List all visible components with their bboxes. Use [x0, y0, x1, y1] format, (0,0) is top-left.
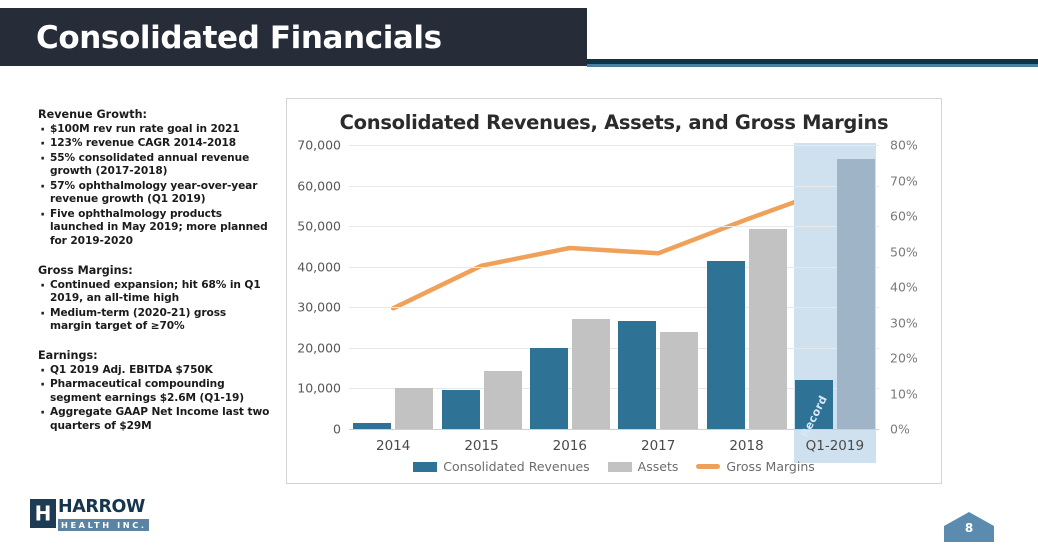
legend-label: Consolidated Revenues	[443, 459, 589, 474]
bullet-item: Five ophthalmology products launched in …	[38, 208, 270, 249]
chart-plot-area: 010,00020,00030,00040,00050,00060,00070,…	[349, 145, 879, 429]
bullet-item: 55% consolidated annual revenue growth (…	[38, 152, 270, 180]
chart-panel: Consolidated Revenues, Assets, and Gross…	[286, 98, 942, 484]
highlights-column: Revenue Growth:$100M rev run rate goal i…	[38, 107, 270, 434]
legend-swatch	[413, 462, 437, 472]
x-axis-tick-label: 2016	[553, 438, 587, 454]
logo-company-subtitle: HEALTH INC.	[58, 519, 149, 531]
gridline	[349, 186, 879, 187]
bar-consolidated-revenues	[618, 321, 656, 429]
bar-consolidated-revenues: Record	[795, 380, 833, 429]
bar-assets	[395, 388, 433, 429]
gridline	[349, 226, 879, 227]
y-axis-tick-right: 0%	[890, 422, 910, 437]
bullet-item: $100M rev run rate goal in 2021	[38, 123, 270, 137]
y-axis-tick-left: 40,000	[297, 259, 341, 274]
bar-assets	[837, 159, 875, 429]
y-axis-tick-right: 60%	[890, 209, 918, 224]
section-heading: Gross Margins:	[38, 263, 270, 278]
gridline	[349, 145, 879, 146]
page-number: 8	[944, 521, 994, 535]
y-axis-tick-left: 50,000	[297, 219, 341, 234]
gridline	[349, 307, 879, 308]
legend-swatch	[608, 462, 632, 472]
y-axis-tick-left: 10,000	[297, 381, 341, 396]
bullet-item: Continued expansion; hit 68% in Q1 2019,…	[38, 279, 270, 307]
legend-item: Consolidated Revenues	[413, 459, 589, 474]
logo-company-name: HARROW	[58, 499, 149, 517]
y-axis-tick-right: 30%	[890, 315, 918, 330]
x-axis-tick-label: Q1-2019	[806, 438, 864, 454]
page-title: Consolidated Financials	[36, 20, 442, 56]
bar-consolidated-revenues	[707, 261, 745, 429]
harrow-health-logo: HARROW HEALTH INC.	[30, 499, 149, 531]
x-axis-tick-label: 2018	[729, 438, 763, 454]
x-axis-tick-label: 2015	[464, 438, 498, 454]
section-heading: Revenue Growth:	[38, 107, 270, 122]
bar-consolidated-revenues	[530, 348, 568, 429]
x-axis-tick-label: 2014	[376, 438, 410, 454]
bullet-item: Aggregate GAAP Net Income last two quart…	[38, 406, 270, 434]
bullet-list: Continued expansion; hit 68% in Q1 2019,…	[38, 279, 270, 335]
bullet-item: Pharmaceutical compounding segment earni…	[38, 378, 270, 406]
y-axis-tick-right: 80%	[890, 138, 918, 153]
gridline	[349, 267, 879, 268]
bullet-item: Q1 2019 Adj. EBITDA $750K	[38, 364, 270, 378]
bar-assets	[572, 319, 610, 429]
header-rule-light	[587, 64, 1038, 67]
section-heading: Earnings:	[38, 348, 270, 363]
page-number-badge: 8	[944, 512, 994, 542]
section-gap	[38, 335, 270, 348]
logo-wordmark: HARROW HEALTH INC.	[58, 499, 149, 531]
y-axis-tick-left: 20,000	[297, 340, 341, 355]
y-axis-tick-right: 40%	[890, 280, 918, 295]
bar-assets	[749, 229, 787, 429]
bullet-item: 57% ophthalmology year-over-year revenue…	[38, 180, 270, 208]
y-axis-tick-left: 0	[333, 422, 341, 437]
bar-assets	[660, 332, 698, 429]
legend-item: Assets	[608, 459, 679, 474]
bar-consolidated-revenues	[353, 423, 391, 429]
chart-legend: Consolidated RevenuesAssetsGross Margins	[287, 459, 941, 474]
legend-label: Gross Margins	[726, 459, 814, 474]
chart-title: Consolidated Revenues, Assets, and Gross…	[287, 111, 941, 134]
y-axis-tick-right: 50%	[890, 244, 918, 259]
y-axis-tick-right: 20%	[890, 351, 918, 366]
y-axis-tick-left: 70,000	[297, 138, 341, 153]
legend-swatch	[696, 464, 720, 469]
y-axis-tick-right: 70%	[890, 173, 918, 188]
gridline	[349, 348, 879, 349]
y-axis-tick-left: 60,000	[297, 178, 341, 193]
bar-assets	[484, 371, 522, 429]
bar-consolidated-revenues	[442, 390, 480, 429]
bullet-list: Q1 2019 Adj. EBITDA $750KPharmaceutical …	[38, 364, 270, 434]
legend-label: Assets	[638, 459, 679, 474]
section-gap	[38, 250, 270, 263]
y-axis-tick-right: 10%	[890, 386, 918, 401]
bullet-item: 123% revenue CAGR 2014-2018	[38, 137, 270, 151]
legend-item: Gross Margins	[696, 459, 814, 474]
y-axis-tick-left: 30,000	[297, 300, 341, 315]
logo-h-icon	[30, 499, 56, 528]
x-axis-tick-label: 2017	[641, 438, 675, 454]
bullet-item: Medium-term (2020-21) gross margin targe…	[38, 307, 270, 335]
bullet-list: $100M rev run rate goal in 2021123% reve…	[38, 123, 270, 249]
